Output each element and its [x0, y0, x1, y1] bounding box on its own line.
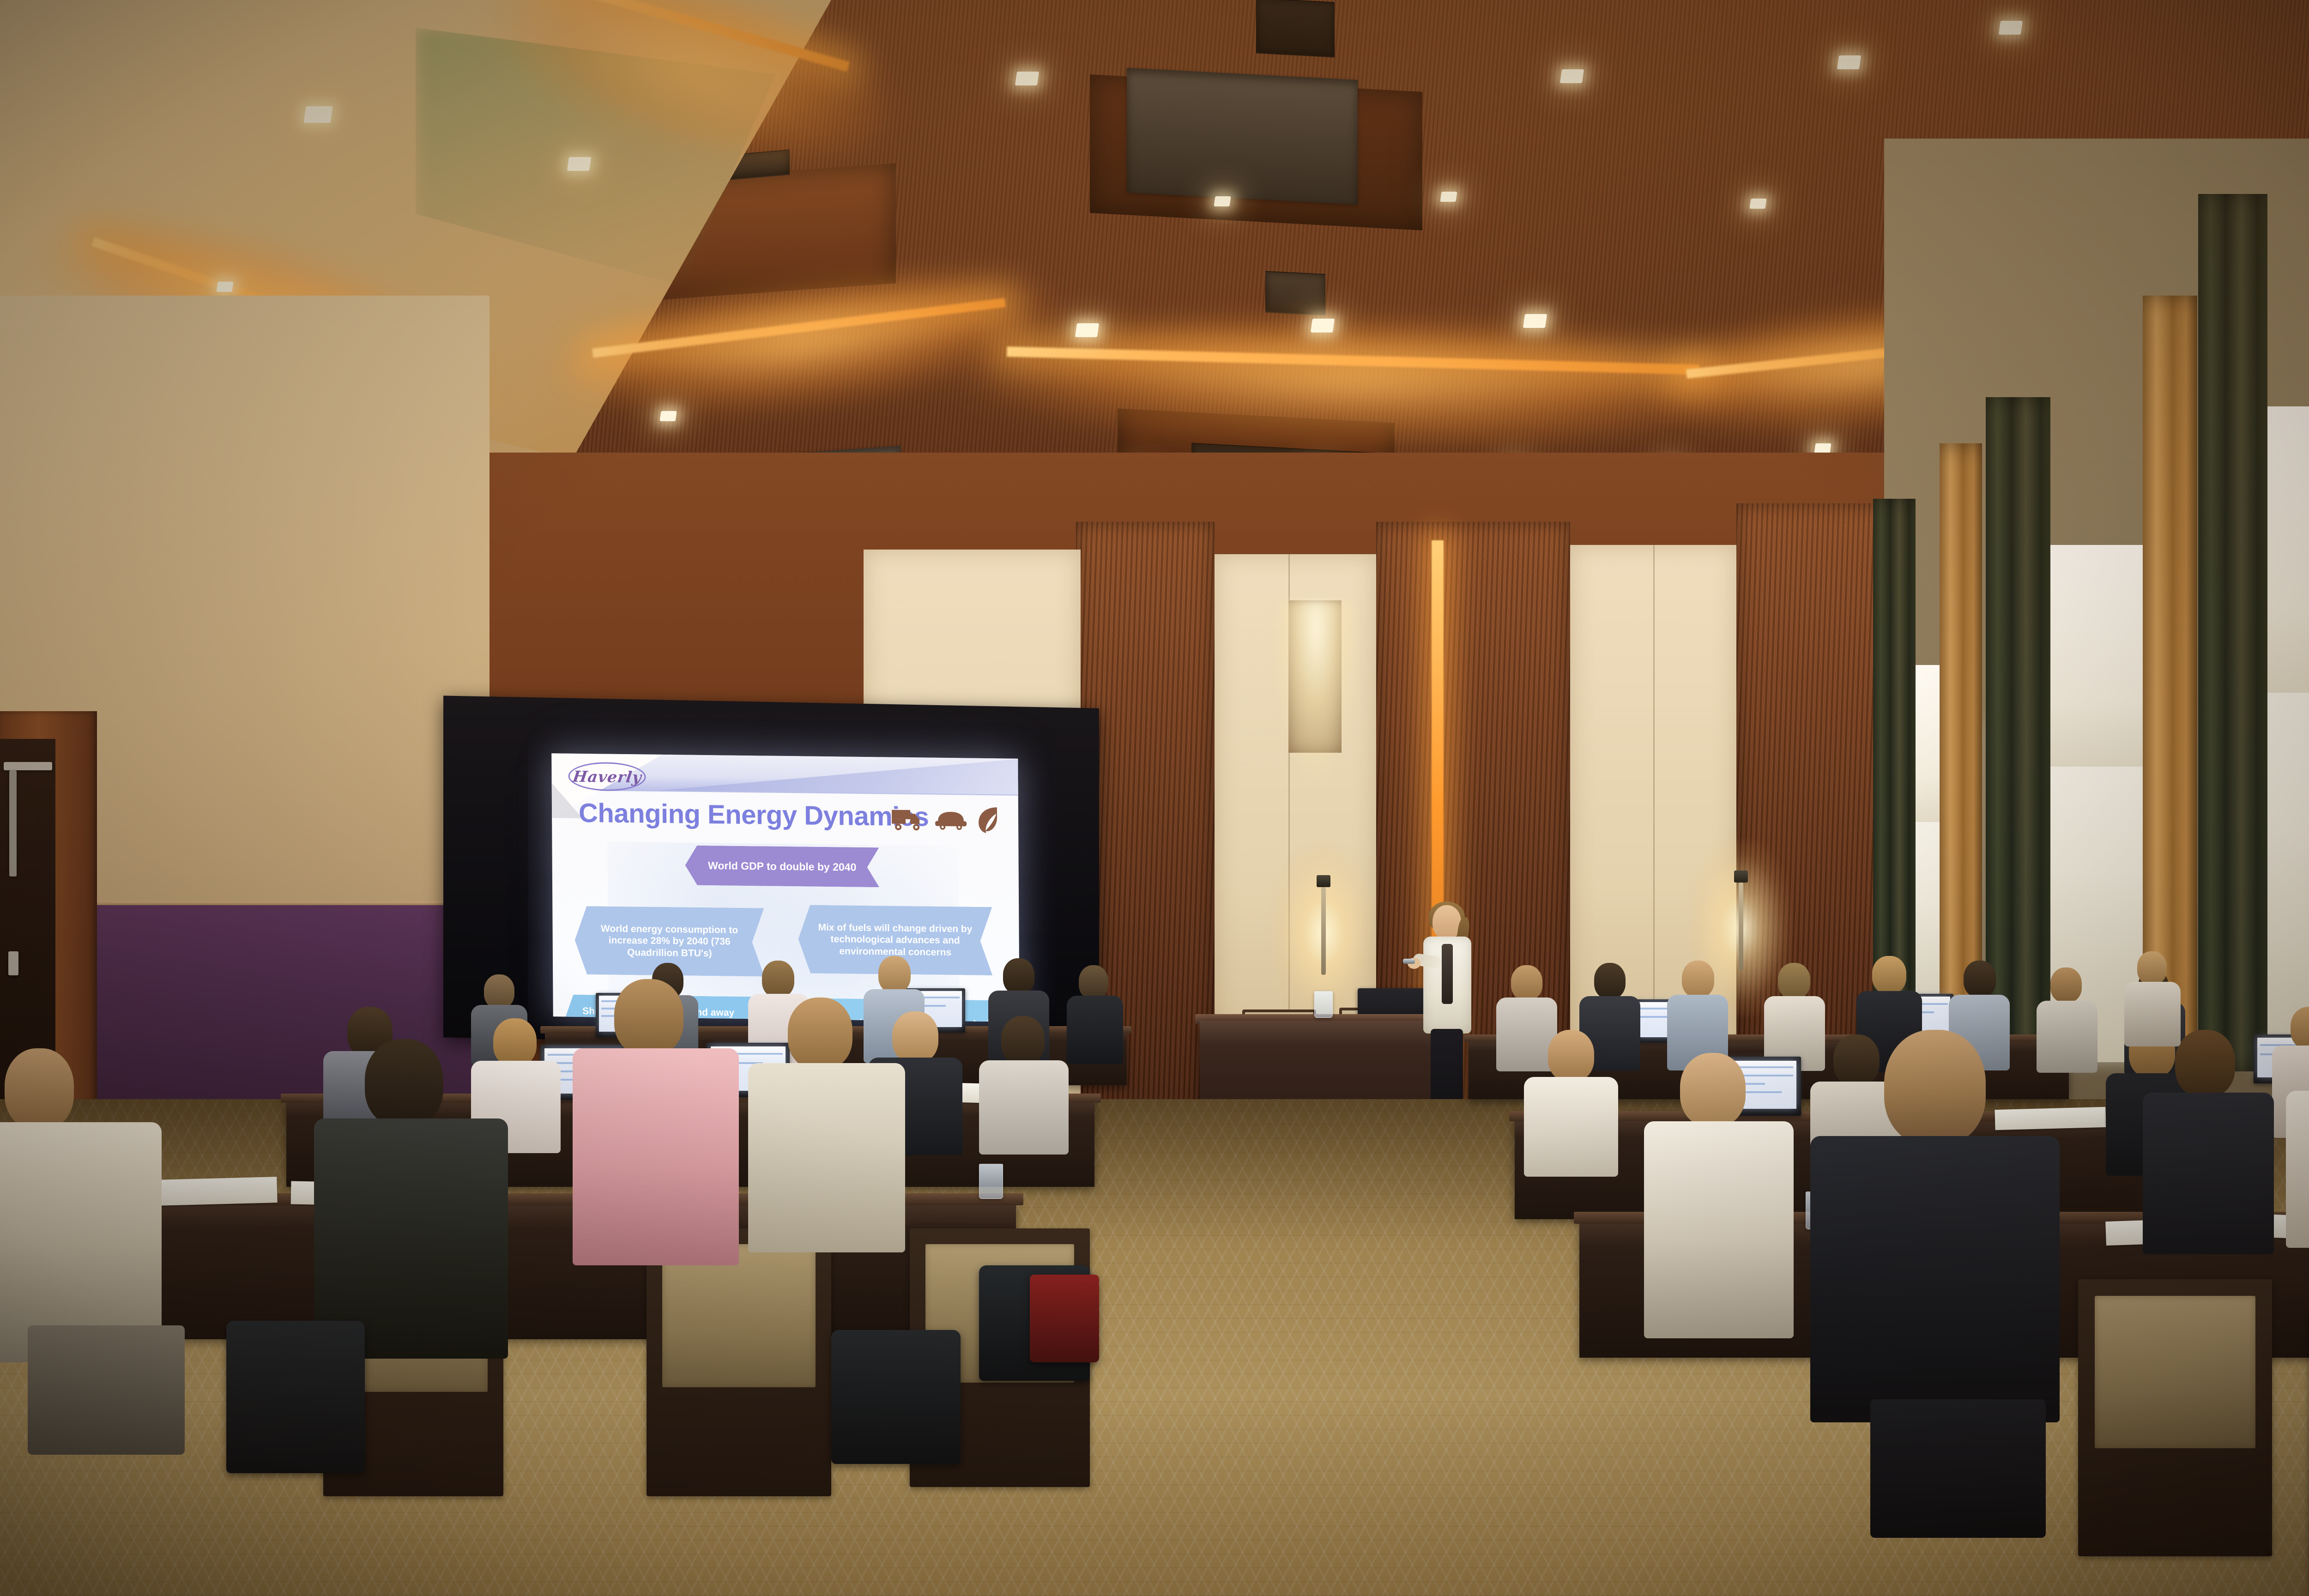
attendee-torso	[1810, 1136, 2060, 1422]
ceiling-downlight	[659, 411, 677, 421]
presentation-clicker[interactable]	[1403, 959, 1415, 964]
attendee-head	[5, 1048, 74, 1130]
attendee-torso	[748, 1063, 905, 1252]
ceiling-downlight	[1015, 72, 1039, 85]
ceiling-downlight	[1214, 196, 1231, 206]
attendee-head	[1594, 963, 1626, 999]
wall-sconce-right	[1734, 871, 1748, 883]
ceiling-downlight	[216, 282, 233, 292]
slide-title: Changing Energy Dynamics	[579, 798, 929, 833]
attendee	[2286, 1030, 2309, 1242]
stage-water-glass[interactable]	[1314, 991, 1333, 1018]
attendee-foreground	[314, 1039, 508, 1362]
audience-chair[interactable]	[2078, 1279, 2272, 1556]
ceiling-downlight	[1523, 314, 1547, 328]
slide-icon-row	[891, 805, 998, 834]
ceiling-downlight	[1440, 192, 1457, 202]
attendee-torso	[2124, 982, 2181, 1046]
ceiling-downlight	[303, 106, 332, 123]
attendee-torso	[1644, 1121, 1794, 1338]
window-shade	[2041, 545, 2147, 767]
attendee-head	[762, 961, 794, 997]
attendee	[1644, 1053, 1792, 1339]
attendee	[2124, 951, 2180, 1044]
attendee-legs	[1870, 1399, 2046, 1538]
attendee-head	[1964, 961, 1996, 997]
attendee-head	[614, 979, 683, 1056]
attendee-head	[788, 997, 852, 1070]
attendee-head	[1884, 1030, 1986, 1145]
attendee-head	[1001, 1016, 1045, 1065]
attendee-head	[2050, 967, 2082, 1003]
truck-icon	[891, 807, 925, 832]
attendee-foreground	[1815, 1030, 2055, 1492]
presenter-top	[1442, 944, 1453, 1004]
attendee	[2143, 1030, 2272, 1251]
ceiling-speaker-box	[1127, 68, 1358, 205]
ceiling-downlight	[1837, 55, 1861, 69]
wall-sconce-stem	[1321, 887, 1326, 975]
chair-back-cushion	[662, 1244, 816, 1387]
slide-block-gdp: World GDP to double by 2040	[685, 846, 879, 888]
attendee-foreground	[0, 1048, 194, 1455]
attendee-head	[2175, 1030, 2235, 1097]
ceiling-downlight	[1075, 323, 1099, 337]
wall-niche-spotlight	[1275, 600, 1358, 780]
attendee	[1067, 965, 1122, 1062]
door-push-bar[interactable]	[4, 762, 52, 770]
attendee-torso	[1524, 1077, 1618, 1177]
attendee-torso	[573, 1048, 739, 1265]
attendee-head	[1778, 963, 1810, 999]
wall-sconce-left	[1317, 875, 1330, 887]
attendee-torso	[1067, 996, 1123, 1064]
ceiling-downlight	[1560, 69, 1584, 83]
attendee-head	[1680, 1053, 1746, 1127]
window-drape	[2198, 194, 2267, 1071]
attendee	[748, 997, 905, 1247]
leaf-icon	[977, 806, 998, 834]
attendee	[1524, 1030, 1616, 1173]
attendee-head	[1511, 965, 1542, 1000]
water-glass[interactable]	[979, 1164, 1003, 1199]
backpack[interactable]	[226, 1321, 365, 1473]
ceiling-downlight	[1749, 199, 1766, 209]
attendee-head	[2137, 951, 2167, 985]
attendee-head	[1003, 958, 1034, 994]
ceiling-vent	[1256, 0, 1335, 57]
door-hardware	[8, 951, 18, 975]
attendee-head	[1079, 965, 1108, 999]
attendee-head	[484, 974, 514, 1009]
backpack[interactable]	[831, 1330, 961, 1464]
attendee	[573, 979, 739, 1265]
backpack[interactable]	[1030, 1275, 1099, 1362]
attendee-torso	[2286, 1091, 2309, 1248]
attendee-head	[1682, 961, 1714, 997]
ceiling-downlight	[1814, 443, 1831, 453]
attendee-head	[365, 1039, 443, 1127]
attendee-legs	[28, 1325, 185, 1455]
attendee-torso	[979, 1060, 1069, 1155]
ceiling-downlight	[1999, 21, 2023, 35]
conference-room-photo: Haverly Changing Energy Dynamics World G…	[0, 0, 2309, 1596]
ceiling-downlight	[567, 157, 591, 171]
ceiling-vent	[1265, 271, 1325, 316]
attendee-head	[1548, 1030, 1594, 1082]
ceiling-downlight	[1311, 319, 1335, 332]
attendee-torso	[2143, 1093, 2274, 1254]
attendee-head	[878, 956, 911, 993]
door-hardware	[9, 770, 17, 877]
attendee-head	[1872, 956, 1906, 994]
attendee	[979, 1016, 1067, 1150]
haverly-logo-text: Haverly	[572, 767, 643, 786]
chair-back-cushion	[2095, 1296, 2255, 1448]
car-icon	[934, 809, 967, 831]
wall-sconce-stem	[1739, 883, 1743, 970]
audience-chair[interactable]	[647, 1228, 831, 1496]
